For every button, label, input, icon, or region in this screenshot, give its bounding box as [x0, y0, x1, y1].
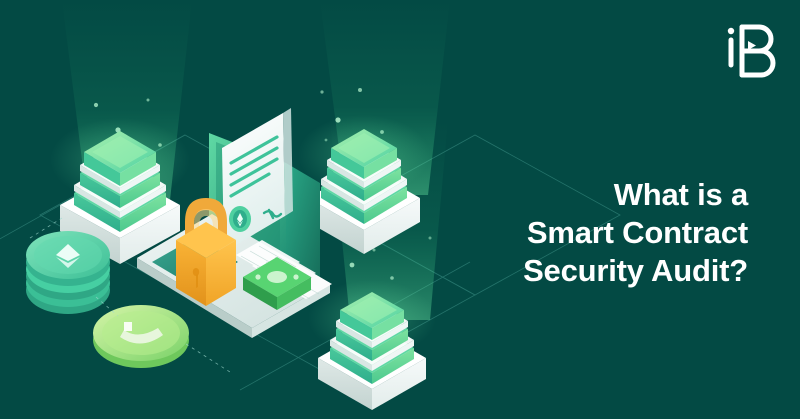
headline-line-2: Smart Contract	[328, 214, 748, 252]
headline-line-3: Security Audit?	[328, 252, 748, 290]
document-seal-icon	[229, 206, 251, 232]
ib-monogram-logo[interactable]	[718, 16, 782, 78]
logo-dot	[728, 28, 734, 34]
page-title: What is a Smart Contract Security Audit?	[328, 176, 748, 290]
headline-line-1: What is a	[328, 176, 748, 214]
check-coin	[93, 305, 189, 368]
article-banner: What is a Smart Contract Security Audit?	[0, 0, 800, 419]
block-stack-bottom-right	[308, 280, 436, 410]
ethereum-coin-stack	[26, 231, 110, 314]
